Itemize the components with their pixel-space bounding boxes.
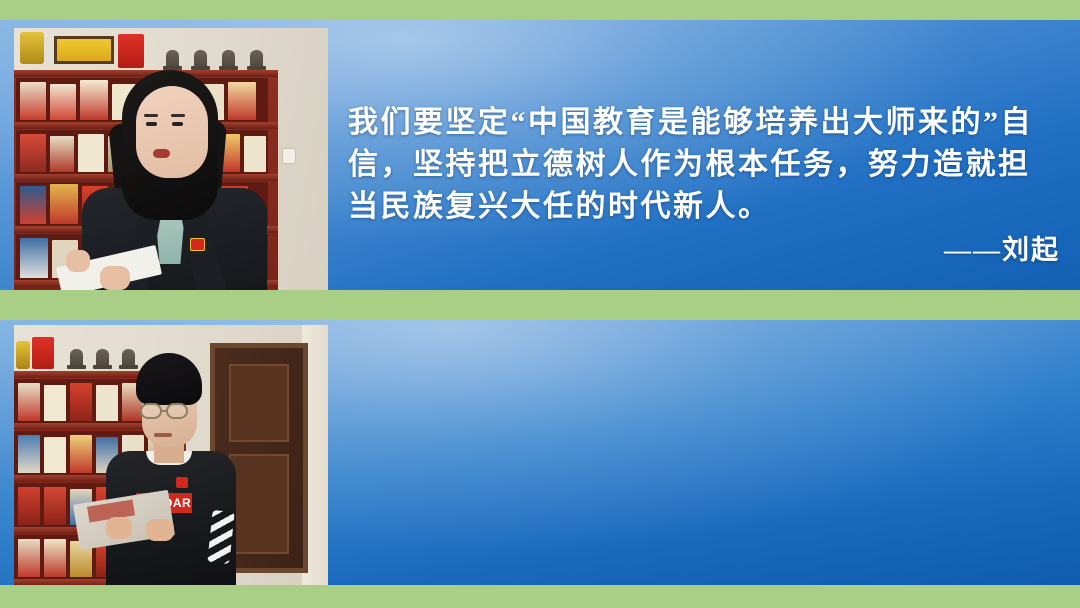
person-mouth [153, 149, 170, 158]
book [18, 383, 40, 421]
person-hand [106, 517, 132, 539]
bust-ornament [250, 50, 263, 70]
flag-ornament [118, 34, 144, 68]
person-eye [146, 122, 157, 126]
person-eyebrow [144, 114, 158, 117]
person-eyebrow [171, 114, 185, 117]
eyeglasses-bridge [162, 410, 168, 412]
photo-scene: UPSOAR [14, 325, 328, 585]
book [20, 186, 46, 224]
party-emblem-pin [176, 477, 188, 488]
book [18, 435, 40, 473]
book [50, 84, 76, 120]
book [44, 487, 66, 525]
quote-attribution-top: ——刘起 [560, 228, 1060, 267]
book [50, 184, 78, 224]
eyeglasses-lens [140, 403, 162, 419]
book [44, 385, 66, 421]
person-hand [66, 250, 90, 272]
flag-ornament [32, 337, 54, 369]
bust-ornament [122, 349, 135, 369]
photo-speaker-female [14, 28, 328, 290]
photo-scene [14, 28, 328, 290]
person-hand [100, 266, 130, 290]
trophy-ornament [16, 341, 30, 369]
person-eye [172, 122, 183, 126]
book [70, 435, 92, 473]
wall-switch [282, 148, 296, 164]
photo-speaker-male: UPSOAR [14, 325, 328, 585]
book [20, 238, 48, 278]
bust-ornament [166, 50, 179, 70]
book [44, 539, 66, 577]
quote-text-top: 我们要坚定“中国教育是能够培养出大师来的”自信，坚持把立德树人作为根本任务，努力… [348, 102, 1060, 228]
person-mouth [154, 433, 172, 437]
book [96, 385, 118, 421]
person-face [136, 86, 208, 178]
bust-ornament [70, 349, 83, 369]
book [228, 82, 256, 120]
wall-plaque [54, 36, 114, 64]
book [44, 437, 66, 473]
door-panel [229, 454, 289, 554]
book [78, 134, 104, 172]
book [18, 487, 40, 525]
book [80, 80, 108, 120]
quote-panel-bottom: UPSOAR 我们要实学实干，不负历史使命，坚定前进信心，努力成为堪当民族复兴重… [0, 320, 1080, 585]
book [50, 136, 74, 172]
book [20, 82, 46, 120]
eyeglasses-lens [166, 403, 188, 419]
bust-ornament [194, 50, 207, 70]
book [18, 539, 40, 577]
book [20, 134, 46, 172]
bust-ornament [96, 349, 109, 369]
book [244, 136, 266, 172]
party-emblem-pin [190, 238, 205, 251]
book [70, 383, 92, 421]
door-panel [229, 364, 289, 442]
bust-ornament [222, 50, 235, 70]
quote-panel-top: 我们要坚定“中国教育是能够培养出大师来的”自信，坚持把立德树人作为根本任务，努力… [0, 20, 1080, 290]
person-hand [146, 519, 174, 541]
trophy-ornament [20, 32, 44, 64]
